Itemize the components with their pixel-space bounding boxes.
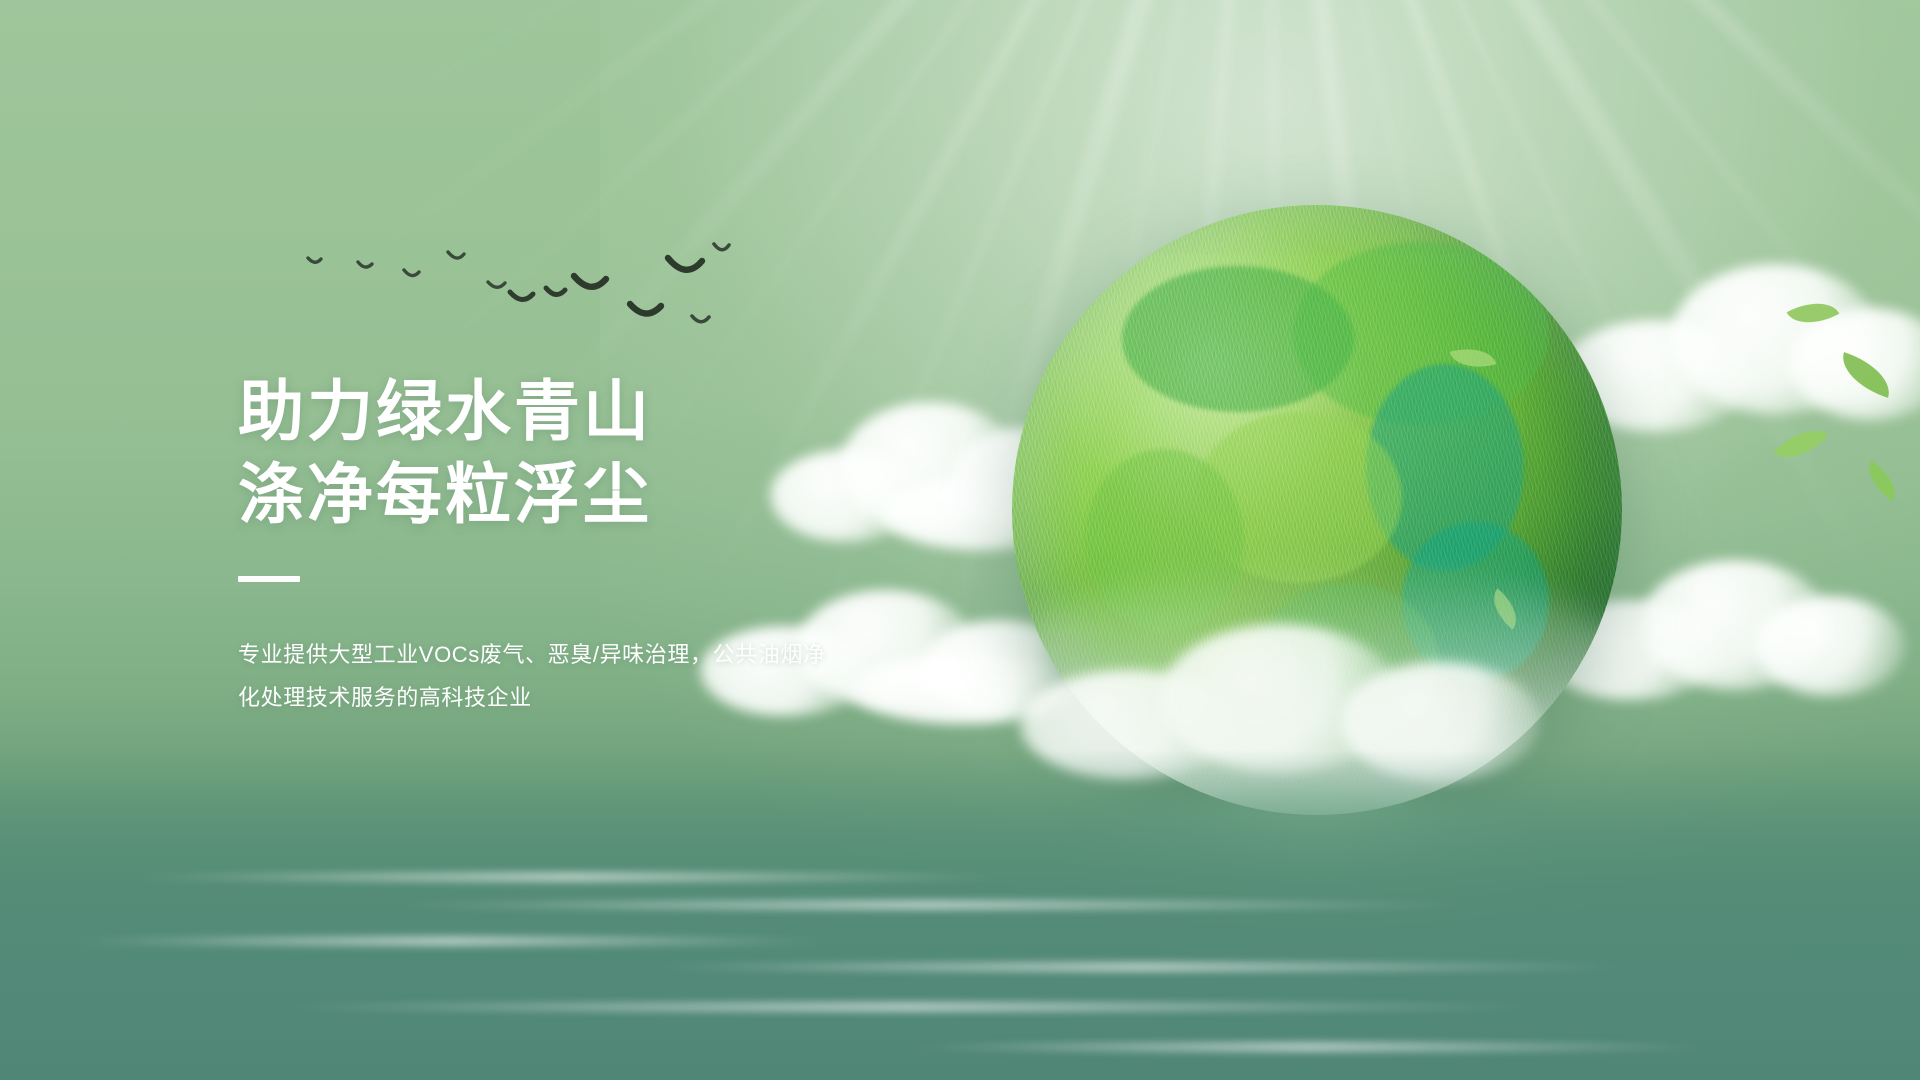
leaf-icon (1859, 461, 1904, 502)
headline-line-1: 助力绿水青山 (238, 370, 938, 453)
cloud-icon (1560, 250, 1920, 450)
cloud-icon (1540, 540, 1900, 720)
leaf-icon (1450, 341, 1497, 375)
hero-banner: 助力绿水青山 涤净每粒浮尘 专业提供大型工业VOCs废气、恶臭/异味治理，公共油… (0, 0, 1920, 1080)
sun-ray (1262, 0, 1889, 597)
leaf-icon (1483, 588, 1526, 629)
sun-ray (1260, 0, 1765, 651)
divider-rule (238, 576, 300, 582)
sun-ray (915, 0, 1279, 711)
sun-ray (1260, 0, 1289, 760)
leaf-icon (1774, 416, 1829, 471)
subtitle-line-2: 化处理技术服务的高科技企业 (238, 677, 898, 720)
leaf-icon (1835, 352, 1898, 398)
flying-birds-icon (300, 230, 760, 340)
sun-ray (1262, 0, 1920, 405)
leaf-icon (1787, 291, 1840, 336)
sun-ray (1035, 0, 1266, 739)
sun-ray (1260, 0, 1657, 698)
globe-reflection (1058, 790, 1578, 980)
sun-ray (1260, 0, 1530, 730)
sun-ray (399, 0, 1269, 388)
earth-globe-icon (1012, 205, 1622, 815)
water-surface-icon (0, 750, 1920, 1080)
subtitle-line-1: 专业提供大型工业VOCs废气、恶臭/异味治理，公共油烟净 (238, 634, 898, 677)
sun-ray (320, 0, 1270, 295)
cloud-icon (1020, 600, 1540, 790)
headline-line-2: 涤净每粒浮尘 (238, 453, 938, 536)
sun-ray (1260, 0, 1422, 752)
page-title: 助力绿水青山 涤净每粒浮尘 (238, 370, 938, 536)
sun-ray (1261, 0, 1920, 513)
hero-subtitle: 专业提供大型工业VOCs废气、恶臭/异味治理，公共油烟净 化处理技术服务的高科技… (238, 634, 898, 720)
sun-ray (1157, 0, 1272, 756)
sun-ray (250, 0, 1266, 191)
hero-copy: 助力绿水青山 涤净每粒浮尘 专业提供大型工业VOCs废气、恶臭/异味治理，公共油… (238, 370, 938, 742)
